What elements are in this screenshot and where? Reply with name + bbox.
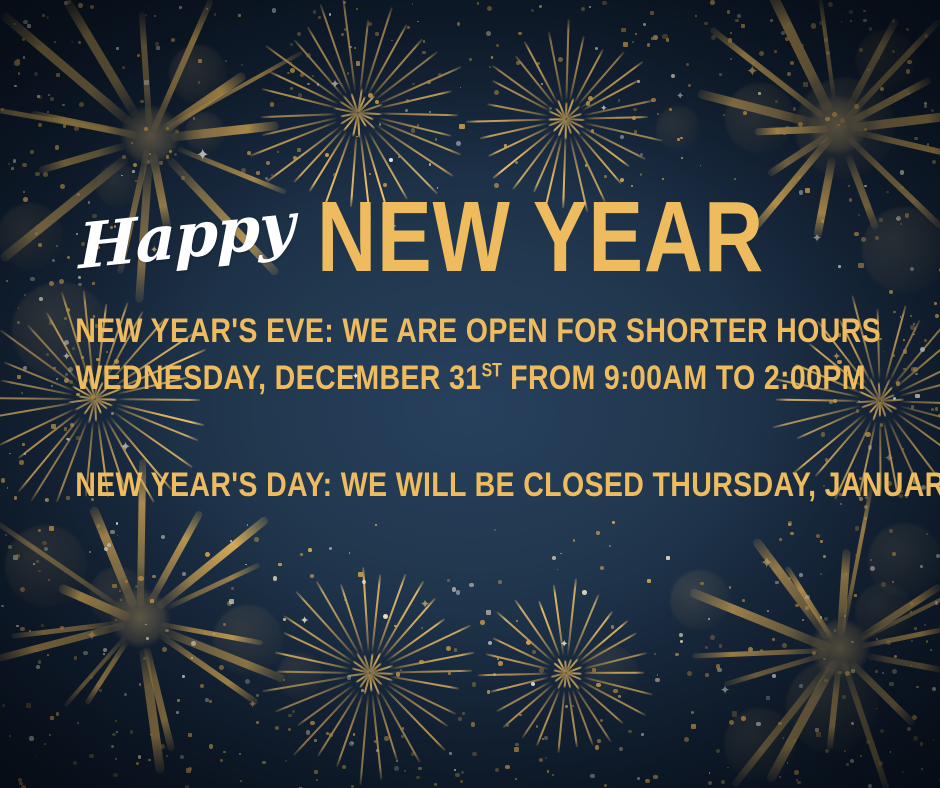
confetti-dot (515, 161, 519, 165)
confetti-dot (89, 754, 93, 758)
confetti-dot (329, 13, 331, 15)
confetti-dot (14, 85, 17, 88)
confetti-dot (825, 749, 829, 753)
confetti-dot (623, 42, 628, 47)
confetti-dot (645, 779, 649, 783)
confetti-dot (124, 693, 127, 696)
confetti-dot (230, 540, 232, 542)
confetti-dot (33, 563, 35, 565)
confetti-dot (300, 553, 303, 556)
confetti-dot (191, 657, 193, 659)
confetti-dot (539, 758, 543, 762)
confetti-dot (588, 96, 593, 101)
confetti-dot (35, 648, 39, 652)
confetti-dot (30, 150, 34, 154)
confetti-dot (787, 72, 791, 76)
confetti-dot (913, 736, 918, 741)
confetti-dot (496, 44, 499, 47)
confetti-dot (785, 126, 789, 130)
confetti-dot (864, 517, 866, 519)
nyd-prefix: NEW YEAR'S DAY: WE WILL BE CLOSED THURSD… (75, 466, 940, 504)
confetti-dot (759, 51, 764, 56)
confetti-dot (182, 572, 186, 576)
confetti-dot (816, 732, 821, 737)
confetti-dot (691, 711, 694, 714)
confetti-dot (932, 160, 937, 165)
confetti-dot (680, 640, 683, 643)
confetti-dot (560, 553, 562, 555)
confetti-dot (205, 552, 210, 557)
confetti-dot (801, 44, 804, 47)
sparkle-icon: ✦ (248, 700, 257, 711)
confetti-dot (285, 760, 287, 762)
confetti-dot (41, 624, 44, 627)
confetti-dot (290, 87, 293, 90)
confetti-dot (748, 647, 753, 652)
confetti-dot (710, 0, 714, 4)
confetti-dot (539, 5, 541, 7)
confetti-dot (612, 521, 616, 525)
confetti-dot (774, 50, 777, 53)
confetti-dot (590, 774, 594, 778)
confetti-dot (115, 720, 117, 722)
confetti-dot (737, 14, 741, 18)
confetti-dot (596, 683, 601, 688)
confetti-dot (729, 586, 732, 589)
confetti-dot (532, 650, 536, 654)
confetti-dot (300, 73, 304, 77)
confetti-dot (288, 714, 292, 718)
confetti-dot (446, 646, 451, 651)
confetti-dot (256, 171, 259, 174)
confetti-dot (49, 526, 54, 531)
confetti-dot (469, 58, 472, 61)
confetti-dot (878, 761, 883, 766)
confetti-dot (838, 671, 841, 674)
confetti-dot (418, 767, 422, 771)
confetti-dot (314, 770, 318, 774)
confetti-dot (591, 129, 594, 132)
confetti-dot (266, 161, 271, 166)
confetti-dot (29, 630, 31, 632)
confetti-dot (120, 599, 122, 601)
confetti-dot (313, 10, 316, 13)
confetti-dot (417, 21, 419, 23)
confetti-dot (596, 531, 599, 534)
confetti-dot (930, 649, 932, 651)
confetti-dot (223, 751, 226, 754)
confetti-dot (374, 740, 377, 743)
confetti-dot (688, 84, 691, 87)
confetti-dot (376, 749, 379, 752)
confetti-dot (406, 99, 409, 102)
confetti-dot (926, 533, 928, 535)
confetti-dot (405, 109, 409, 113)
confetti-dot (876, 638, 878, 640)
bokeh-orb (213, 605, 283, 675)
confetti-dot (342, 765, 346, 769)
bokeh-orb (795, 78, 895, 178)
confetti-dot (63, 124, 67, 128)
confetti-dot (875, 670, 878, 673)
confetti-dot (44, 547, 48, 551)
confetti-dot (290, 68, 295, 73)
confetti-dot (400, 669, 402, 671)
confetti-dot (914, 137, 918, 141)
confetti-dot (277, 151, 279, 153)
confetti-dot (162, 647, 167, 652)
confetti-dot (927, 143, 930, 146)
bokeh-orb (5, 525, 87, 607)
confetti-dot (422, 51, 426, 55)
confetti-dot (165, 629, 169, 633)
confetti-dot (16, 625, 18, 627)
sparkle-icon: ✦ (86, 628, 98, 642)
confetti-dot (306, 53, 311, 58)
confetti-dot (805, 606, 809, 610)
confetti-dot (362, 580, 366, 584)
confetti-dot (741, 24, 745, 28)
confetti-dot (74, 126, 79, 131)
confetti-dot (779, 538, 783, 542)
confetti-dot (519, 714, 522, 717)
confetti-dot (515, 778, 517, 780)
confetti-dot (892, 50, 895, 53)
confetti-dot (619, 747, 623, 751)
confetti-dot (130, 730, 134, 734)
confetti-dot (35, 172, 39, 176)
confetti-dot (595, 47, 599, 51)
confetti-dot (375, 32, 378, 35)
confetti-dot (54, 41, 56, 43)
confetti-dot (262, 761, 265, 764)
confetti-dot (460, 87, 462, 89)
bokeh-orb (786, 660, 878, 752)
confetti-dot (793, 739, 797, 743)
confetti-dot (637, 777, 640, 780)
confetti-dot (368, 22, 372, 26)
confetti-dot (206, 8, 208, 10)
confetti-dot (924, 105, 926, 107)
confetti-dot (49, 734, 51, 736)
confetti-dot (205, 698, 209, 702)
confetti-dot (150, 599, 154, 603)
confetti-dot (851, 641, 854, 644)
confetti-dot (99, 689, 102, 692)
confetti-dot (794, 770, 799, 775)
confetti-dot (344, 599, 346, 601)
confetti-dot (97, 524, 101, 528)
confetti-dot (878, 57, 880, 59)
confetti-dot (637, 80, 640, 83)
confetti-dot (866, 740, 870, 744)
confetti-dot (198, 59, 202, 63)
confetti-dot (55, 145, 59, 149)
confetti-dot (11, 167, 14, 170)
confetti-dot (640, 173, 643, 176)
confetti-dot (220, 759, 223, 762)
confetti-dot (924, 624, 926, 626)
confetti-dot (144, 127, 148, 131)
confetti-dot (1, 605, 4, 608)
confetti-dot (767, 610, 769, 612)
confetti-dot (552, 774, 554, 776)
confetti-dot (256, 694, 259, 697)
confetti-dot (297, 148, 301, 152)
confetti-dot (565, 705, 568, 708)
confetti-dot (460, 780, 463, 783)
confetti-dot (271, 174, 273, 176)
confetti-dot (18, 72, 21, 75)
confetti-dot (20, 587, 25, 592)
confetti-dot (79, 102, 84, 107)
confetti-dot (231, 587, 234, 590)
confetti-dot (514, 747, 519, 752)
confetti-dot (317, 83, 320, 86)
confetti-dot (241, 168, 246, 173)
confetti-dot (325, 153, 329, 157)
confetti-dot (936, 554, 940, 558)
confetti-dot (14, 60, 19, 65)
confetti-dot (209, 744, 213, 748)
confetti-dot (74, 656, 77, 659)
confetti-dot (846, 763, 849, 766)
confetti-dot (495, 768, 499, 772)
confetti-dot (36, 665, 40, 669)
confetti-dot (595, 745, 599, 749)
confetti-dot (772, 638, 774, 640)
confetti-dot (38, 660, 42, 664)
confetti-dot (933, 739, 935, 741)
confetti-dot (115, 619, 117, 621)
confetti-dot (148, 759, 150, 761)
confetti-dot (844, 750, 846, 752)
confetti-dot (203, 631, 207, 635)
confetti-dot (506, 724, 509, 727)
confetti-dot (47, 111, 49, 113)
confetti-dot (239, 753, 241, 755)
confetti-dot (926, 640, 929, 643)
bokeh-orb (724, 708, 796, 780)
confetti-dot (743, 111, 747, 115)
confetti-dot (494, 90, 499, 95)
confetti-dot (389, 158, 393, 162)
confetti-dot (459, 124, 464, 129)
body-line-nyd-closed: NEW YEAR'S DAY: WE WILL BE CLOSED THURSD… (75, 462, 865, 509)
confetti-dot (455, 773, 460, 778)
confetti-dot (347, 675, 351, 679)
confetti-dot (90, 5, 95, 10)
confetti-dot (140, 100, 144, 104)
confetti-dot (557, 569, 559, 571)
confetti-dot (558, 57, 563, 62)
confetti-dot (416, 776, 420, 780)
nye-date-suffix: FROM 9:00AM TO 2:00PM (502, 359, 866, 397)
confetti-dot (13, 23, 15, 25)
confetti-dot (73, 761, 77, 765)
confetti-dot (35, 756, 37, 758)
confetti-dot (298, 93, 302, 97)
confetti-dot (22, 38, 26, 42)
confetti-dot (848, 185, 850, 187)
confetti-dot (826, 51, 830, 55)
confetti-dot (83, 651, 87, 655)
confetti-dot (154, 15, 156, 17)
confetti-dot (71, 41, 73, 43)
confetti-dot (633, 108, 636, 111)
confetti-dot (174, 153, 177, 156)
confetti-dot (288, 728, 291, 731)
confetti-dot (419, 660, 423, 664)
confetti-dot (214, 13, 216, 15)
confetti-dot (816, 534, 820, 538)
confetti-dot (889, 290, 893, 294)
confetti-dot (287, 72, 289, 74)
confetti-dot (602, 1, 607, 6)
confetti-dot (166, 755, 168, 757)
confetti-dot (449, 752, 452, 755)
confetti-dot (708, 781, 712, 785)
bokeh-orb (855, 583, 913, 641)
sparkle-icon: ✦ (330, 78, 340, 90)
confetti-dot (209, 700, 212, 703)
confetti-dot (90, 676, 93, 679)
confetti-dot (112, 584, 117, 589)
confetti-dot (632, 116, 636, 120)
confetti-dot (462, 712, 465, 715)
confetti-dot (176, 711, 179, 714)
confetti-dot (611, 625, 614, 628)
headline-script-word: Happy (79, 187, 294, 283)
confetti-dot (772, 674, 775, 677)
confetti-dot (573, 539, 576, 542)
confetti-dot (39, 297, 43, 301)
confetti-dot (850, 759, 854, 763)
confetti-dot (34, 72, 38, 76)
bokeh-orb (169, 45, 227, 103)
confetti-dot (932, 687, 936, 691)
confetti-dot (790, 61, 794, 65)
sparkle-icon: ✦ (760, 556, 773, 572)
confetti-dot (186, 768, 191, 773)
confetti-dot (185, 785, 189, 788)
confetti-dot (136, 762, 139, 765)
confetti-dot (477, 2, 479, 4)
paragraph-spacer (0, 402, 940, 462)
confetti-dot (640, 153, 643, 156)
confetti-dot (684, 737, 689, 742)
confetti-dot (289, 62, 292, 65)
confetti-dot (892, 552, 896, 556)
confetti-dot (793, 107, 796, 110)
confetti-dot (343, 1, 345, 3)
confetti-dot (545, 757, 547, 759)
confetti-dot (9, 735, 11, 737)
confetti-dot (647, 43, 650, 46)
confetti-dot (349, 741, 354, 746)
confetti-dot (125, 580, 128, 583)
headline: Happy NEW YEAR (0, 196, 940, 278)
confetti-dot (417, 124, 420, 127)
confetti-dot (775, 100, 778, 103)
confetti-dot (457, 22, 460, 25)
confetti-dot (383, 614, 388, 619)
confetti-dot (802, 619, 804, 621)
confetti-dot (911, 640, 913, 642)
confetti-dot (621, 28, 626, 33)
confetti-dot (133, 163, 137, 167)
confetti-dot (270, 102, 274, 106)
confetti-dot (931, 109, 934, 112)
confetti-dot (354, 47, 356, 49)
confetti-dot (238, 14, 241, 17)
confetti-dot (423, 40, 425, 42)
confetti-dot (541, 83, 543, 85)
confetti-dot (240, 780, 242, 782)
confetti-dot (229, 599, 234, 604)
confetti-dot (675, 653, 678, 656)
confetti-dot (788, 523, 790, 525)
confetti-dot (150, 733, 153, 736)
confetti-dot (916, 686, 919, 689)
confetti-dot (200, 684, 204, 688)
confetti-dot (723, 114, 725, 116)
confetti-dot (695, 15, 697, 17)
confetti-dot (572, 705, 574, 707)
confetti-dot (840, 118, 845, 123)
confetti-dot (552, 556, 556, 560)
confetti-dot (103, 653, 105, 655)
confetti-dot (912, 715, 917, 720)
confetti-dot (906, 28, 909, 31)
confetti-dot (730, 58, 732, 60)
confetti-dot (604, 175, 607, 178)
sparkle-icon: ✦ (560, 640, 568, 650)
confetti-dot (902, 771, 904, 773)
confetti-dot (803, 82, 808, 87)
confetti-dot (245, 564, 247, 566)
confetti-dot (223, 623, 225, 625)
confetti-dot (318, 16, 321, 19)
confetti-dot (5, 534, 7, 536)
confetti-dot (734, 178, 736, 180)
confetti-dot (89, 551, 91, 553)
confetti-dot (850, 20, 852, 22)
confetti-dot (819, 21, 823, 25)
confetti-dot (180, 755, 184, 759)
confetti-dot (38, 123, 42, 127)
confetti-dot (920, 565, 923, 568)
confetti-dot (171, 38, 175, 42)
confetti-dot (247, 127, 250, 130)
confetti-dot (741, 716, 745, 720)
confetti-dot (516, 61, 520, 65)
confetti-dot (854, 104, 859, 109)
confetti-dot (704, 22, 708, 26)
confetti-dot (115, 758, 117, 760)
confetti-dot (116, 522, 118, 524)
confetti-dot (111, 745, 114, 748)
confetti-dot (48, 94, 50, 96)
bokeh-orb (277, 653, 323, 699)
confetti-dot (20, 627, 25, 632)
confetti-dot (43, 172, 48, 177)
confetti-dot (651, 98, 655, 102)
confetti-dot (498, 661, 502, 665)
confetti-dot (779, 776, 781, 778)
confetti-dot (356, 61, 360, 65)
confetti-dot (924, 34, 928, 38)
